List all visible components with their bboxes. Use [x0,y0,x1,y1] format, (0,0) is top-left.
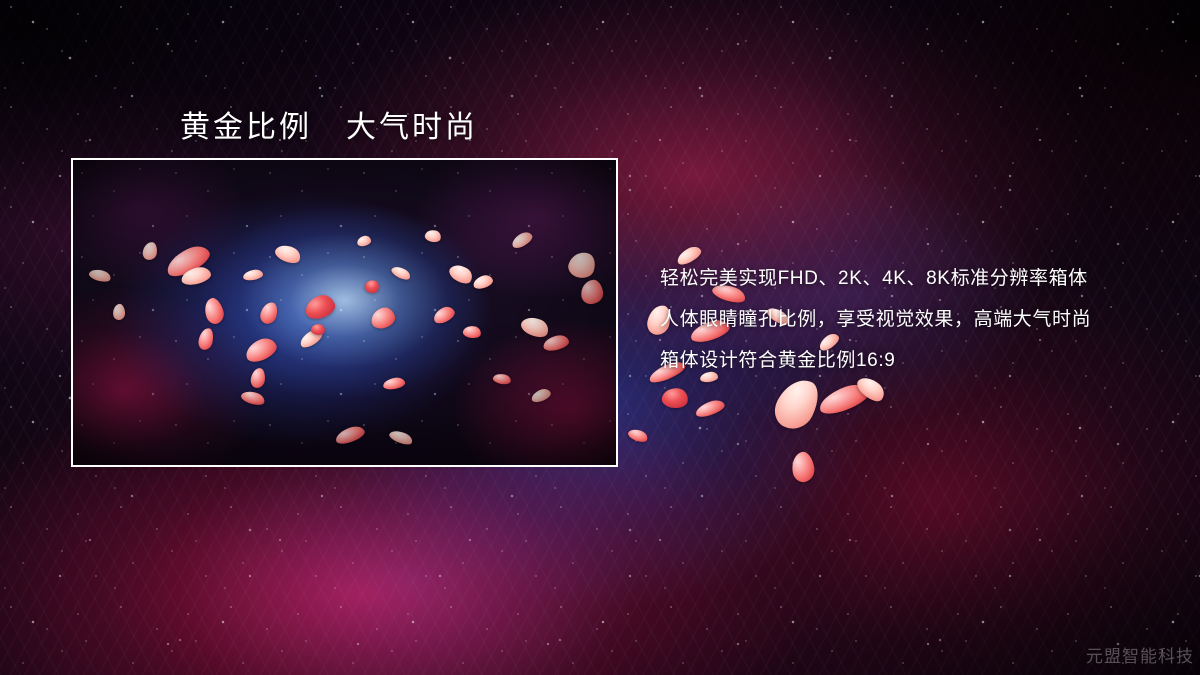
watermark: 元盟智能科技 [1086,642,1194,667]
body-text-block: 轻松完美实现FHD、2K、4K、8K标准分辨率箱体 人体眼睛瞳孔比例，享受视觉效… [660,258,1180,381]
framed-image [71,158,618,467]
body-line: 轻松完美实现FHD、2K、4K、8K标准分辨率箱体 [660,258,1180,299]
presentation-slide: 黄金比例 大气时尚 轻松完美实现FHD、2K、4K、8K标准分辨率箱体 人体眼睛… [0,0,1200,675]
slide-title: 黄金比例 大气时尚 [180,102,478,146]
body-line: 人体眼睛瞳孔比例，享受视觉效果，高端大气时尚 [660,299,1180,340]
body-line: 箱体设计符合黄金比例16:9 [660,340,1180,381]
framed-image-vignette [73,160,616,465]
